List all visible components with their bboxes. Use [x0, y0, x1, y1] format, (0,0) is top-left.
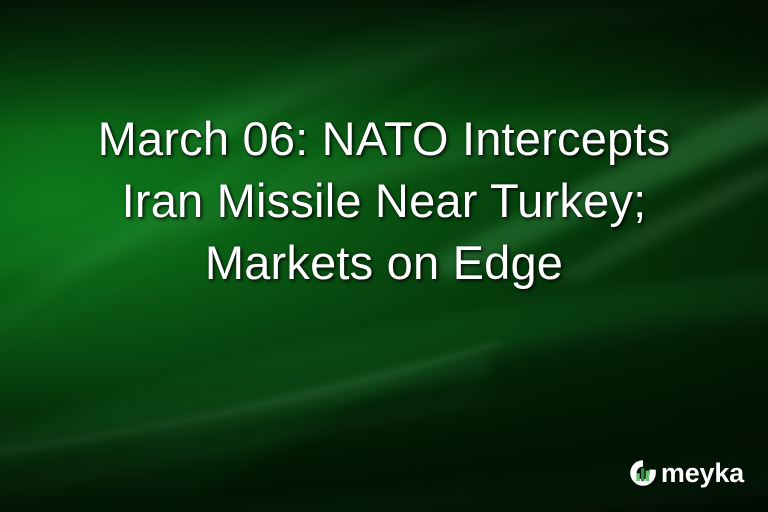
wave-hairline-crossing [0, 330, 500, 470]
meyka-wordmark: meyka [661, 460, 744, 487]
meyka-circle-barchart-icon [628, 458, 658, 488]
news-headline-card: March 06: NATO Intercepts Iran Missile N… [0, 0, 768, 512]
wave-ribbon-lower-left [0, 352, 490, 512]
meyka-logo[interactable]: meyka [628, 458, 744, 488]
headline-text: March 06: NATO Intercepts Iran Missile N… [0, 108, 768, 294]
